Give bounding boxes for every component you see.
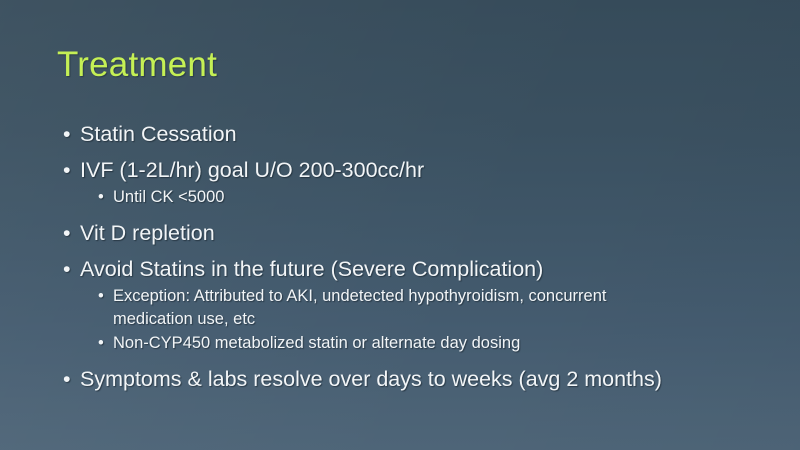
- sub-bullet-item: • Exception: Attributed to AKI, undetect…: [62, 285, 672, 331]
- bullet-point-icon: •: [63, 119, 71, 149]
- bullet-item: • IVF (1-2L/hr) goal U/O 200-300cc/hr: [62, 155, 672, 185]
- bullet-point-icon: •: [63, 254, 71, 284]
- bullet-point-icon: •: [63, 364, 71, 394]
- sub-bullet-text: Exception: Attributed to AKI, undetected…: [113, 285, 672, 331]
- bullet-point-icon: •: [63, 218, 71, 248]
- bullet-point-icon: •: [98, 332, 104, 355]
- bullet-point-icon: •: [63, 155, 71, 185]
- bullet-item: • Vit D repletion: [62, 218, 672, 248]
- sub-bullet-item: • Until CK <5000: [62, 186, 672, 209]
- sub-bullet-text: Non-CYP450 metabolized statin or alterna…: [113, 332, 672, 355]
- bullet-item: • Avoid Statins in the future (Severe Co…: [62, 254, 672, 284]
- bullet-text: Symptoms & labs resolve over days to wee…: [80, 364, 672, 394]
- bullet-text: Avoid Statins in the future (Severe Comp…: [80, 254, 672, 284]
- slide-body-content: • Statin Cessation • IVF (1-2L/hr) goal …: [62, 119, 672, 400]
- bullet-text: IVF (1-2L/hr) goal U/O 200-300cc/hr: [80, 155, 672, 185]
- bullet-point-icon: •: [98, 186, 104, 209]
- bullet-point-icon: •: [98, 285, 104, 308]
- bullet-item: • Symptoms & labs resolve over days to w…: [62, 364, 672, 394]
- sub-bullet-text: Until CK <5000: [113, 186, 672, 209]
- bullet-text: Statin Cessation: [80, 119, 672, 149]
- page-title: Treatment: [57, 44, 217, 86]
- bullet-text: Vit D repletion: [80, 218, 672, 248]
- bullet-item: • Statin Cessation: [62, 119, 672, 149]
- presentation-slide: Treatment • Statin Cessation • IVF (1-2L…: [0, 0, 800, 450]
- sub-bullet-item: • Non-CYP450 metabolized statin or alter…: [62, 332, 672, 355]
